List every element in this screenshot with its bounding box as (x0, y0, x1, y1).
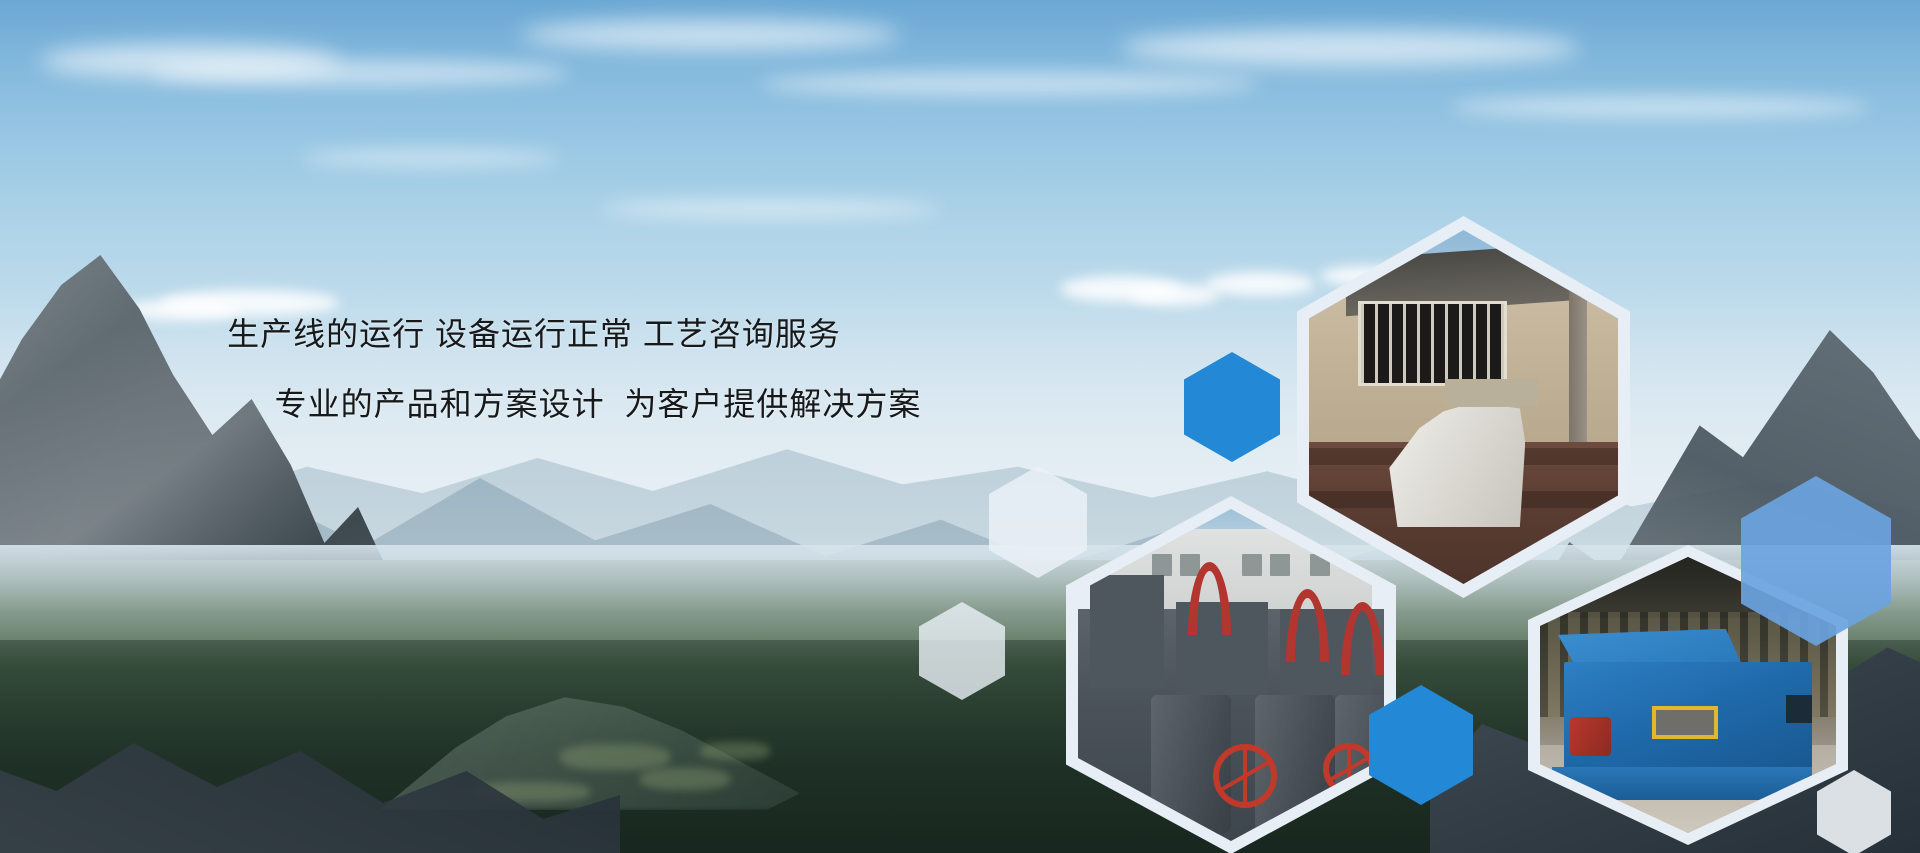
headline-line-2: 专业的产品和方案设计 为客户提供解决方案 (66, 388, 1130, 422)
headline-line-1: 生产线的运行 设备运行正常 工艺咨询服务 (0, 318, 1130, 352)
headline-block: 生产线的运行 设备运行正常 工艺咨询服务 专业的产品和方案设计 为客户提供解决方… (0, 318, 1130, 421)
hero-banner: 生产线的运行 设备运行正常 工艺咨询服务 专业的产品和方案设计 为客户提供解决方… (0, 0, 1920, 853)
